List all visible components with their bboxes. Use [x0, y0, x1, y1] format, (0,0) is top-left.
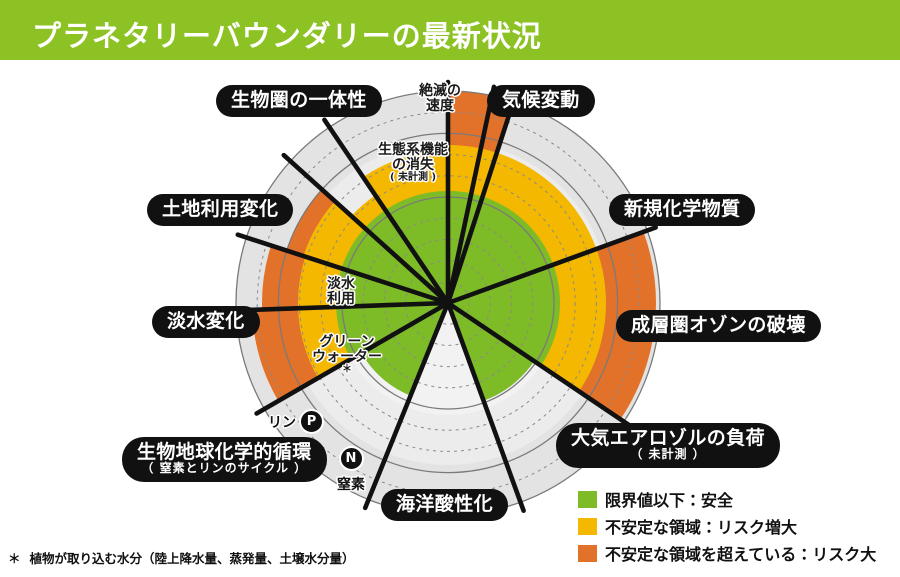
inner-label-line: 速度: [419, 99, 461, 114]
inner-label-line: 利用: [327, 292, 355, 307]
legend-risk-up: 不安定な領域：リスク増大: [578, 514, 876, 538]
inner-label-line: 絶滅の: [419, 84, 461, 99]
nutrient-marker-label: リン: [268, 412, 296, 432]
footnote: ＊植物が取り込む水分（陸上降水量、蒸発量、土壌水分量）: [8, 548, 355, 567]
boundary-label-text: 生物圏の一体性: [231, 89, 367, 111]
page-title: プラネタリーバウンダリーの最新状況: [32, 13, 542, 55]
footnote-text: 植物が取り込む水分（陸上降水量、蒸発量、土壌水分量）: [30, 551, 355, 566]
boundary-label-freshwater-change: 淡水変化: [152, 306, 260, 338]
boundary-label-text: 新規化学物質: [624, 198, 740, 220]
boundary-label-text: 気候変動: [502, 89, 580, 111]
boundary-label-text: 海洋酸性化: [396, 493, 493, 515]
boundary-label-ocean-acidification: 海洋酸性化: [381, 489, 508, 521]
inner-label-loss-ecosystem-function: 生態系機能の消失( 未計測 ): [378, 143, 448, 184]
inner-label-note: ( 未計測 ): [378, 173, 448, 184]
inner-label-line: グリーン: [312, 335, 382, 350]
legend: 限界値以下：安全不安定な領域：リスク増大不安定な領域を超えている：リスク大: [578, 487, 876, 568]
boundary-label-ozone-depletion: 成層圏オゾンの破壊: [616, 310, 821, 342]
nutrient-symbol-p-icon: P: [299, 409, 324, 434]
inner-label-note: ＊: [312, 365, 382, 376]
boundary-label-sub: （ 窒素とリンのサイクル ）: [137, 462, 312, 475]
inner-label-line: ウォーター: [312, 350, 382, 365]
boundary-label-sub: （ 未計測 ）: [571, 448, 765, 461]
boundary-label-biosphere-integrity: 生物圏の一体性: [216, 85, 382, 117]
boundary-label-text: 大気エアロゾルの負荷: [571, 427, 765, 449]
nutrient-marker-nitrogen: N窒素: [337, 446, 365, 494]
boundary-label-climate-change: 気候変動: [487, 85, 595, 117]
inner-label-extinction-rate: 絶滅の速度: [419, 84, 461, 114]
boundary-label-atmospheric-aerosol: 大気エアロゾルの負荷（ 未計測 ）: [556, 423, 780, 468]
inner-label-blue-water-use: 淡水利用: [327, 277, 355, 307]
nutrient-marker-label: 窒素: [337, 474, 365, 494]
legend-label: 不安定な領域を超えている：リスク大: [605, 541, 876, 565]
footnote-star: ＊: [8, 551, 21, 566]
legend-label: 限界値以下：安全: [605, 487, 733, 511]
inner-label-line: の消失: [378, 158, 448, 173]
legend-risk-high: 不安定な領域を超えている：リスク大: [578, 541, 876, 565]
boundary-label-land-use-change: 土地利用変化: [147, 194, 293, 226]
legend-swatch: [578, 518, 597, 535]
boundary-label-text: 土地利用変化: [162, 198, 278, 220]
inner-label-line: 生態系機能: [378, 143, 448, 158]
boundary-label-text: 淡水変化: [167, 310, 245, 332]
legend-swatch: [578, 491, 597, 508]
legend-safe: 限界値以下：安全: [578, 487, 876, 511]
inner-label-line: 淡水: [327, 277, 355, 292]
boundary-label-text: 成層圏オゾンの破壊: [631, 314, 806, 336]
nutrient-symbol-n-icon: N: [339, 446, 364, 471]
legend-label: 不安定な領域：リスク増大: [605, 514, 797, 538]
boundary-label-biogeochemical-flows: 生物地球化学的循環（ 窒素とリンのサイクル ）: [122, 437, 327, 482]
nutrient-marker-phosphorus: リンP: [268, 409, 324, 434]
boundary-label-text: 生物地球化学的循環: [137, 441, 312, 463]
boundary-label-novel-entities: 新規化学物質: [609, 194, 755, 226]
legend-swatch: [578, 545, 597, 562]
inner-label-green-water: グリーンウォーター＊: [312, 335, 382, 376]
